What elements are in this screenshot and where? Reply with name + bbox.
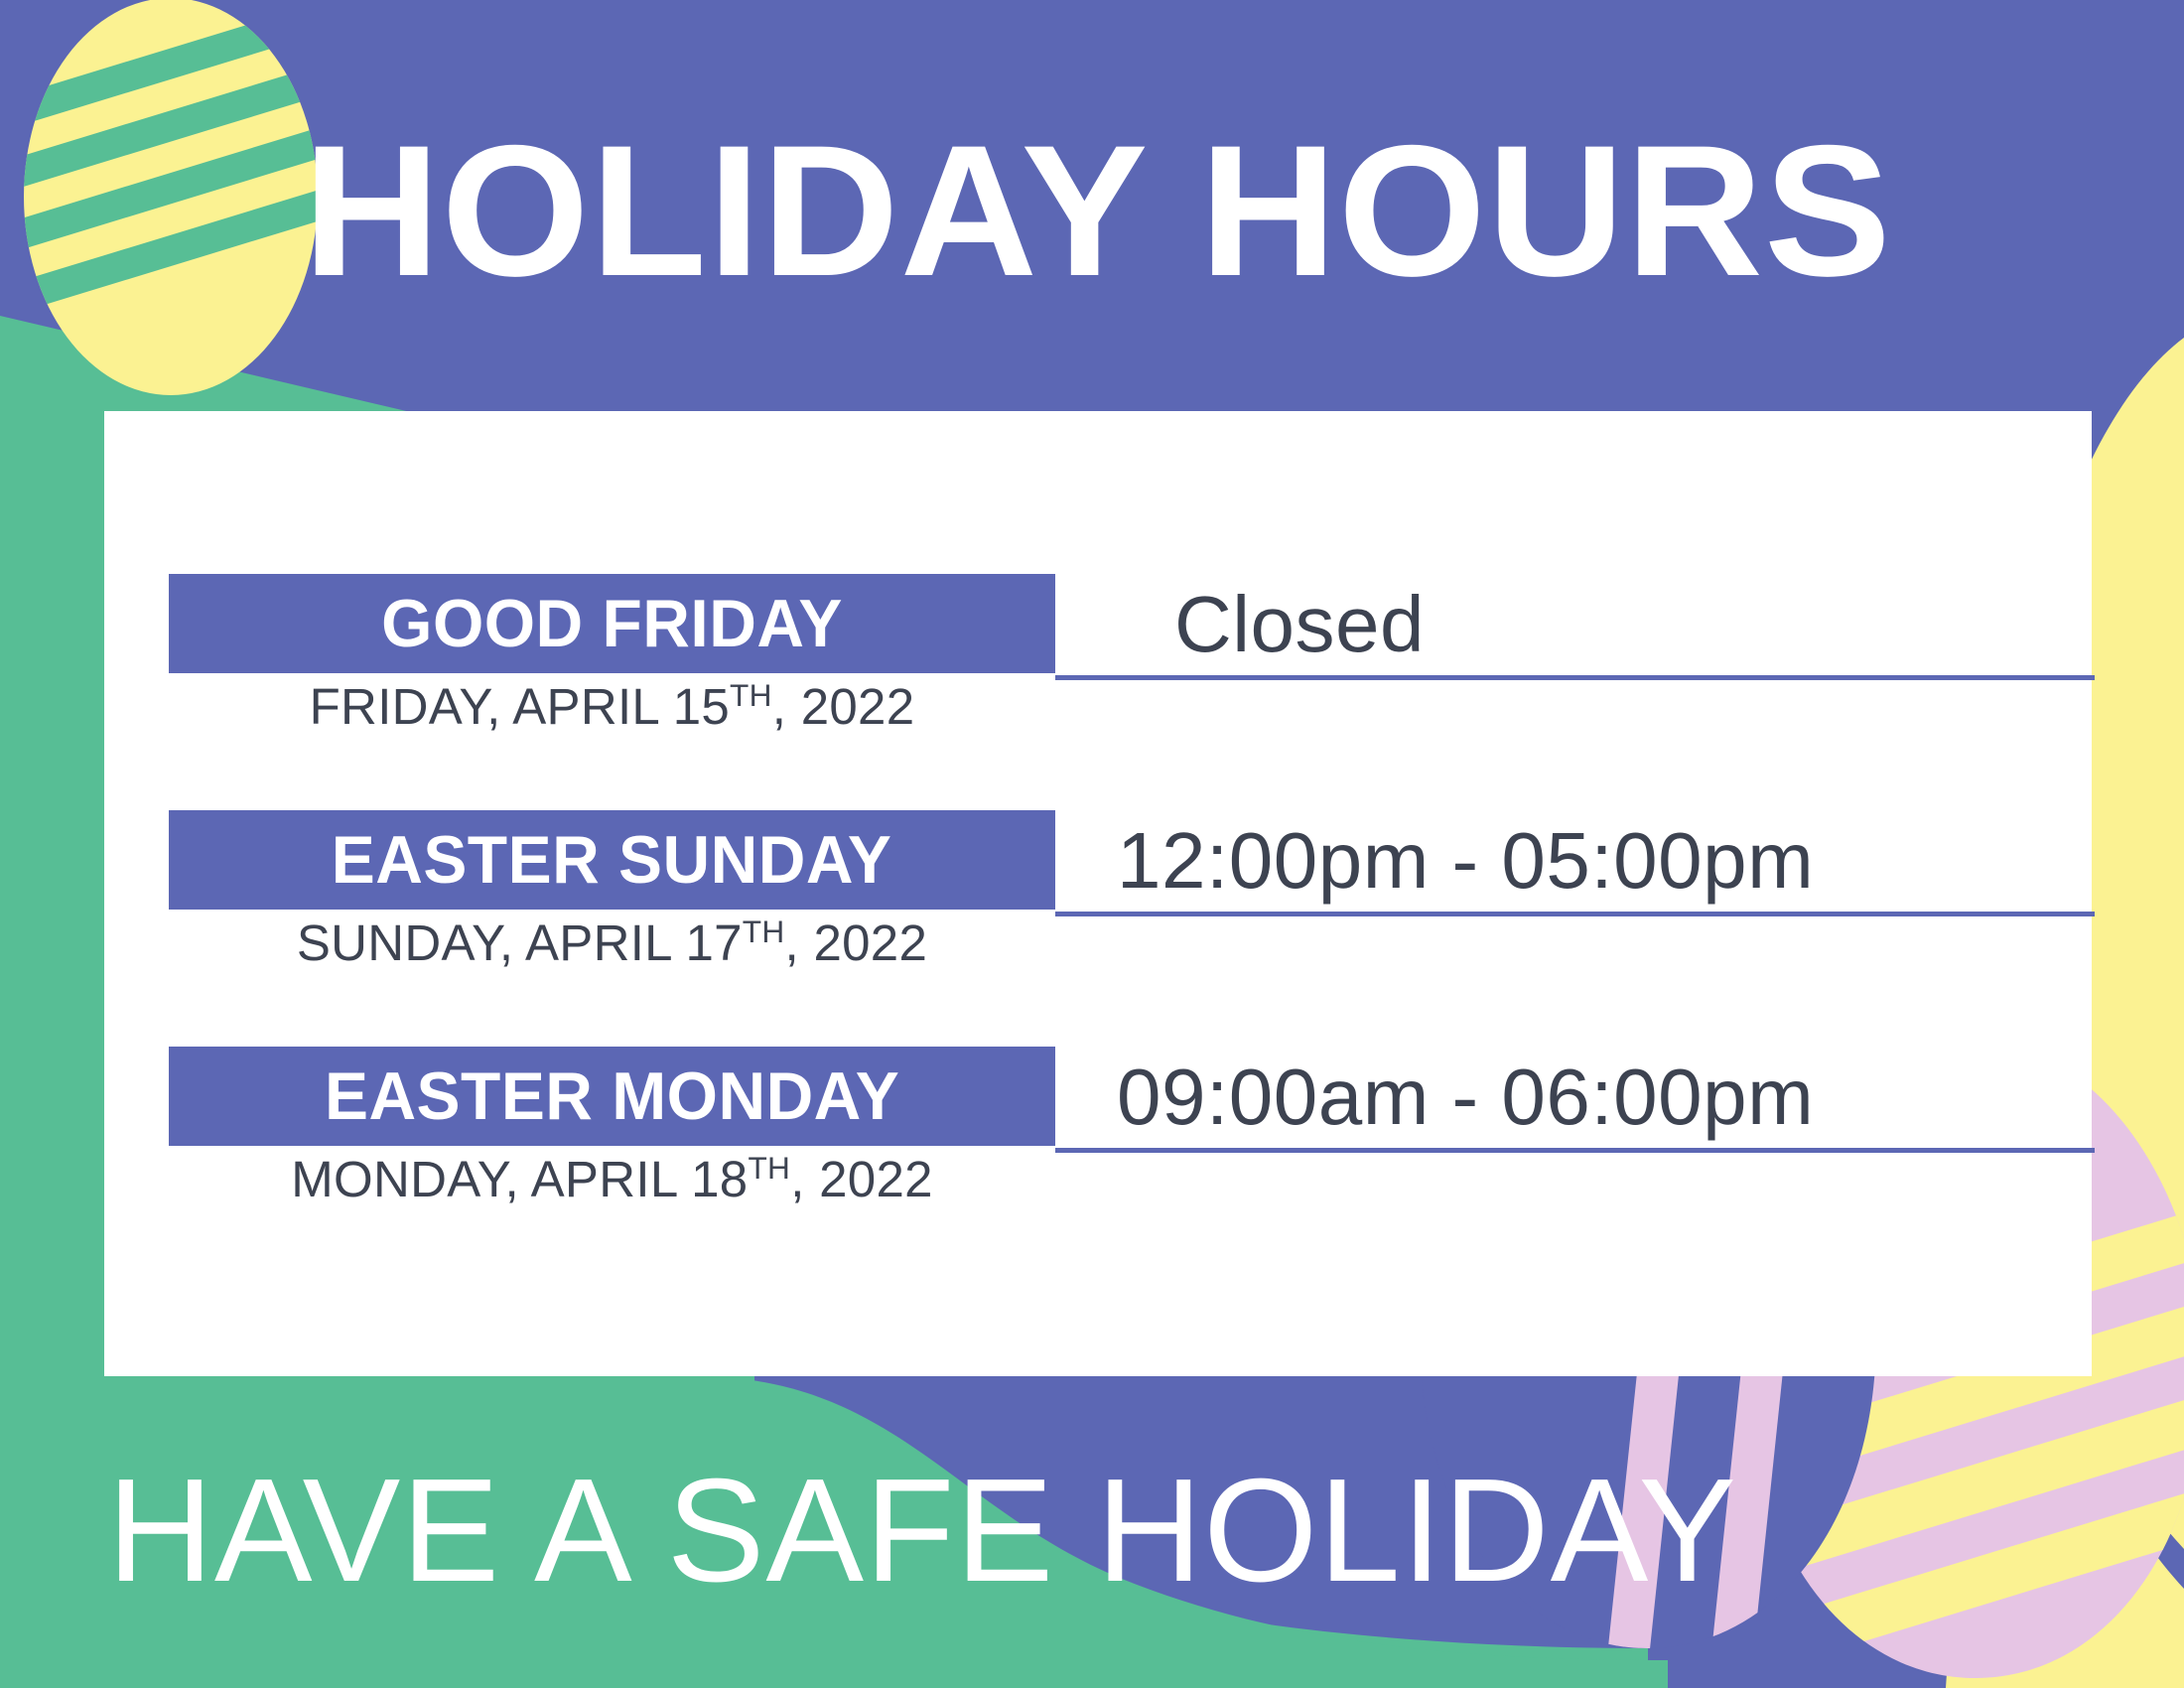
date-ordinal: TH: [730, 677, 772, 713]
holiday-date: FRIDAY, APRIL 15TH, 2022: [169, 677, 1055, 736]
holiday-name: EASTER MONDAY: [325, 1057, 899, 1135]
page-title: HOLIDAY HOURS: [303, 117, 1892, 304]
holiday-name: EASTER SUNDAY: [332, 821, 892, 899]
hours-value: 09:00am - 06:00pm: [1055, 1052, 1814, 1143]
holiday-name-bar: EASTER SUNDAY: [169, 810, 1055, 910]
hours-value: 12:00pm - 05:00pm: [1055, 815, 1814, 907]
hours-value: Closed: [1055, 579, 1425, 670]
date-day: 18: [691, 1151, 748, 1207]
date-weekday: SUNDAY,: [297, 914, 513, 971]
date-weekday: MONDAY,: [291, 1151, 519, 1207]
schedule-row: EASTER SUNDAY SUNDAY, APRIL 17TH, 2022 1…: [169, 810, 2095, 1039]
hours-cell: 12:00pm - 05:00pm: [1055, 810, 2095, 916]
footer-message: HAVE A SAFE HOLIDAY: [107, 1458, 1737, 1605]
date-day: 17: [685, 914, 742, 971]
date-ordinal: TH: [748, 1150, 790, 1186]
date-year: 2022: [801, 678, 915, 735]
date-month: APRIL: [512, 678, 658, 735]
hours-cell: Closed: [1055, 574, 2095, 680]
poster-canvas: HOLIDAY HOURS GOOD FRIDAY FRIDAY, APRIL …: [0, 0, 2184, 1688]
holiday-name-bar: GOOD FRIDAY: [169, 574, 1055, 673]
holiday-date: MONDAY, APRIL 18TH, 2022: [169, 1150, 1055, 1208]
holiday-name: GOOD FRIDAY: [381, 585, 843, 662]
date-day: 15: [673, 678, 730, 735]
date-year: 2022: [819, 1151, 933, 1207]
date-weekday: FRIDAY,: [310, 678, 501, 735]
holiday-date: SUNDAY, APRIL 17TH, 2022: [169, 914, 1055, 972]
date-month: APRIL: [531, 1151, 677, 1207]
holiday-name-bar: EASTER MONDAY: [169, 1047, 1055, 1146]
date-year: 2022: [813, 914, 927, 971]
date-ordinal: TH: [743, 914, 785, 949]
hours-cell: 09:00am - 06:00pm: [1055, 1047, 2095, 1153]
date-month: APRIL: [525, 914, 671, 971]
schedule-row: GOOD FRIDAY FRIDAY, APRIL 15TH, 2022 Clo…: [169, 574, 2095, 802]
schedule-row: EASTER MONDAY MONDAY, APRIL 18TH, 2022 0…: [169, 1047, 2095, 1275]
